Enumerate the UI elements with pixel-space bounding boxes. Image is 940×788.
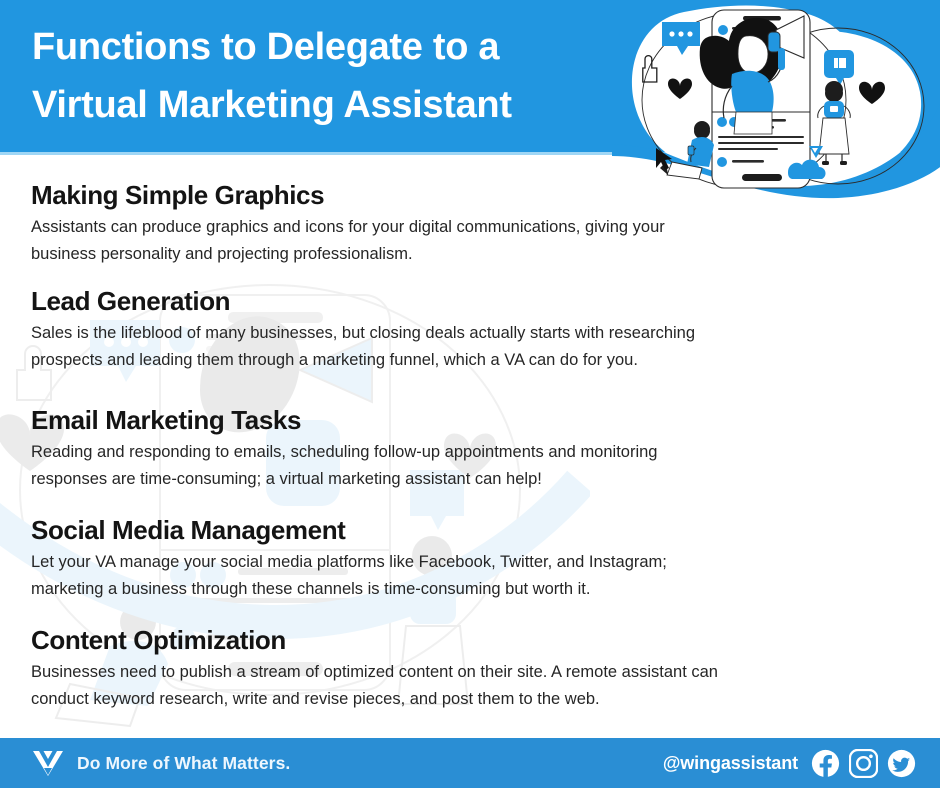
section-body: Reading and responding to emails, schedu… — [31, 439, 876, 492]
section-title: Email Marketing Tasks — [31, 405, 891, 435]
section-title: Social Media Management — [31, 515, 891, 545]
hero-illustration — [612, 0, 940, 201]
section-body: Let your VA manage your social media pla… — [31, 549, 876, 602]
section-email-marketing-tasks: Email Marketing Tasks Reading and respon… — [31, 405, 891, 493]
section-body: Businesses need to publish a stream of o… — [31, 659, 876, 712]
footer-brand: Do More of What Matters. — [31, 738, 290, 788]
twitter-icon[interactable] — [887, 749, 916, 778]
social-handle: @wingassistant — [663, 753, 798, 774]
section-lead-generation: Lead Generation Sales is the lifeblood o… — [31, 286, 891, 374]
infographic-page: Functions to Delegate to a Virtual Marke… — [0, 0, 940, 788]
section-body: Assistants can produce graphics and icon… — [31, 214, 876, 267]
section-title: Content Optimization — [31, 625, 891, 655]
section-body: Sales is the lifeblood of many businesse… — [31, 320, 876, 373]
section-content-optimization: Content Optimization Businesses need to … — [31, 625, 891, 713]
instagram-icon[interactable] — [849, 749, 878, 778]
section-title: Lead Generation — [31, 286, 891, 316]
footer-tagline: Do More of What Matters. — [77, 753, 290, 774]
page-title: Functions to Delegate to a Virtual Marke… — [32, 19, 632, 135]
wing-w-logo-icon — [31, 748, 65, 778]
section-social-media-management: Social Media Management Let your VA mana… — [31, 515, 891, 603]
footer-social-group: @wingassistant — [663, 738, 916, 788]
footer-bar: Do More of What Matters. @wingassistant — [0, 738, 940, 788]
facebook-icon[interactable] — [811, 749, 840, 778]
sections-list: Making Simple Graphics Assistants can pr… — [0, 152, 940, 738]
